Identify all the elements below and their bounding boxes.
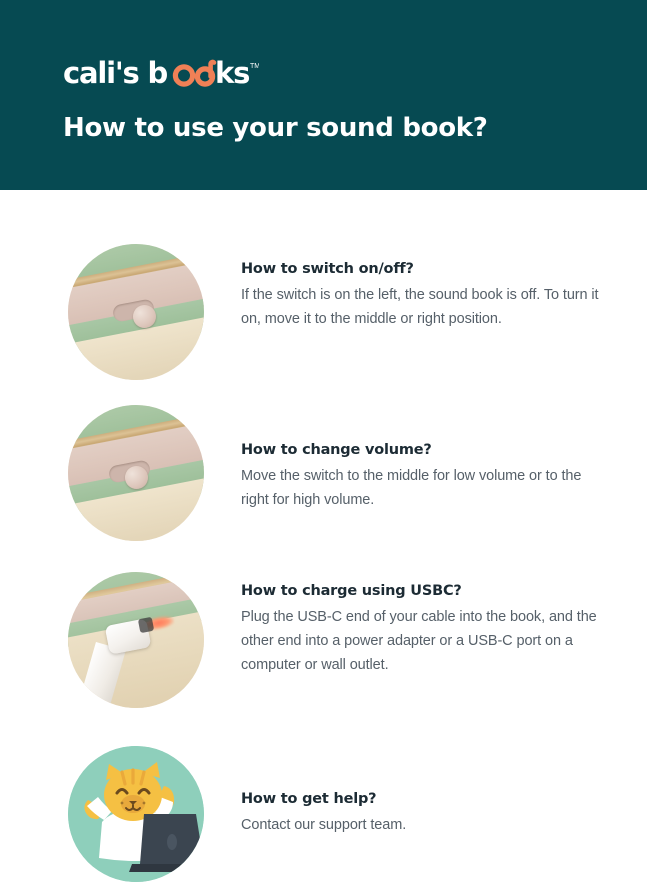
instructions-list: How to switch on/off? If the switch is o… <box>0 190 647 879</box>
support-illustration-thumbnail <box>68 746 204 882</box>
trademark-mark: TM <box>250 63 259 70</box>
cat-with-laptop-icon <box>68 746 204 882</box>
volume-photo-thumbnail <box>68 405 204 541</box>
section-body: If the switch is on the left, the sound … <box>241 283 601 331</box>
page-title: How to use your sound book? <box>63 113 488 143</box>
brand-logo: cali's b ks TM <box>63 58 259 92</box>
instruction-row-volume: How to change volume? Move the switch to… <box>0 405 647 541</box>
calis-books-logo-icon: cali's b ks TM <box>63 56 259 92</box>
section-title: How to switch on/off? <box>241 260 601 280</box>
section-body: Plug the USB-C end of your cable into th… <box>241 605 601 677</box>
switch-photo-thumbnail <box>68 244 204 380</box>
svg-text:ks: ks <box>215 56 249 90</box>
svg-text:cali's b: cali's b <box>63 56 167 90</box>
section-body: Contact our support team. <box>241 813 601 837</box>
instruction-row-switch: How to switch on/off? If the switch is o… <box>0 244 647 380</box>
section-title: How to get help? <box>241 790 601 810</box>
section-title: How to change volume? <box>241 441 601 461</box>
instruction-row-help: How to get help? Contact our support tea… <box>0 746 647 882</box>
switch-text-block: How to switch on/off? If the switch is o… <box>241 260 601 331</box>
usbc-text-block: How to charge using USBC? Plug the USB-C… <box>241 582 601 677</box>
usbc-photo-thumbnail <box>68 572 204 708</box>
help-text-block: How to get help? Contact our support tea… <box>241 790 601 837</box>
instruction-row-charging: How to charge using USBC? Plug the USB-C… <box>0 572 647 708</box>
volume-text-block: How to change volume? Move the switch to… <box>241 441 601 512</box>
section-title: How to charge using USBC? <box>241 582 601 602</box>
section-body: Move the switch to the middle for low vo… <box>241 464 601 512</box>
page-header: cali's b ks TM How to use your sound boo… <box>0 0 647 190</box>
